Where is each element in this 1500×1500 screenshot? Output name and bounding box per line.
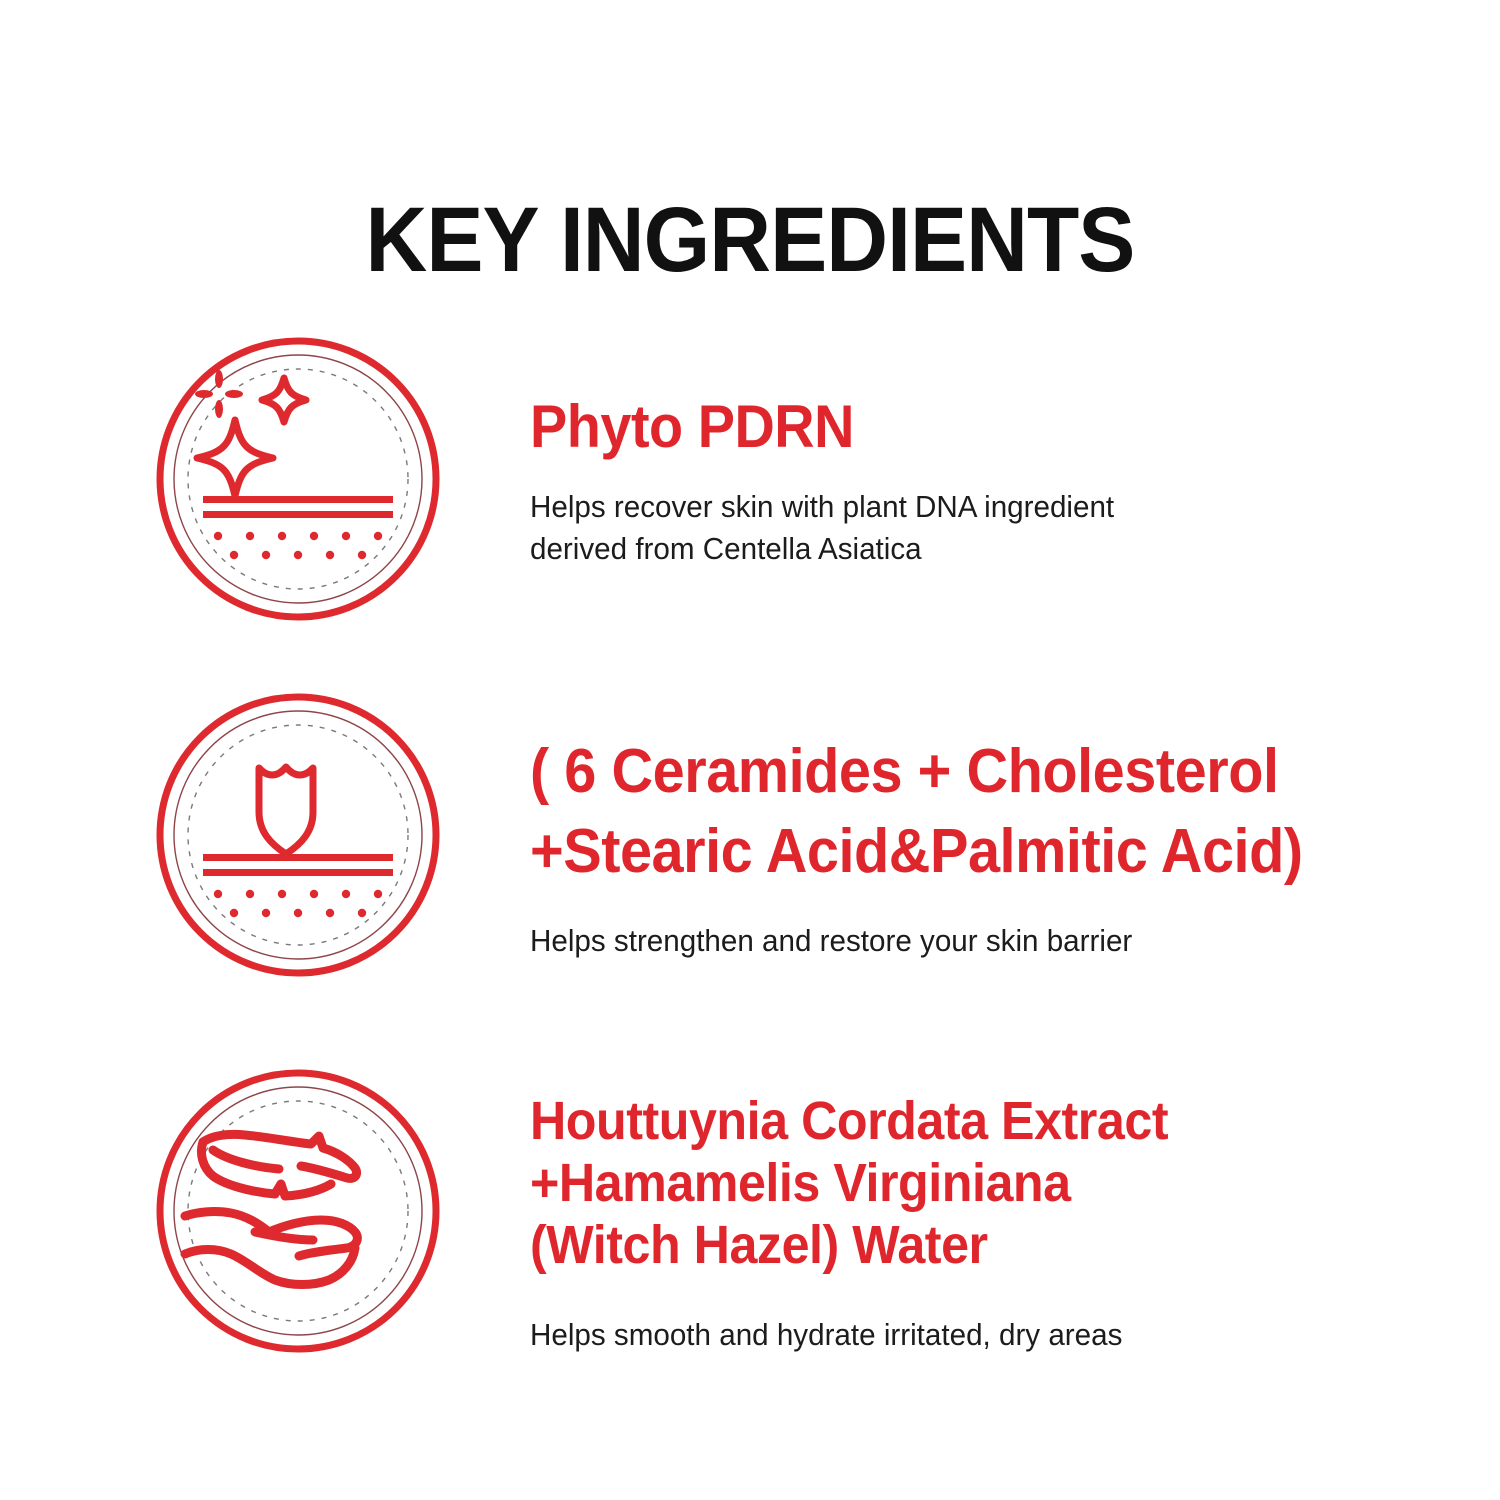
shield-glyph xyxy=(259,767,313,854)
ingredient-description-line: Helps smooth and hydrate irritated, dry … xyxy=(530,1314,1323,1356)
skin-dots-row-2 xyxy=(230,551,366,559)
caring-hands-icon xyxy=(155,1068,441,1354)
skin-layer-bar-top xyxy=(203,496,393,503)
ingredient-description-line: Helps strengthen and restore your skin b… xyxy=(530,920,1323,962)
ingredient-text-block: ( 6 Ceramides + Cholesterol +Stearic Aci… xyxy=(530,732,1360,962)
hand-upper-glyph xyxy=(201,1134,356,1196)
ingredient-description: Helps recover skin with plant DNA ingred… xyxy=(530,486,1323,570)
ingredient-title-line: Houttuynia Cordata Extract xyxy=(530,1090,1302,1152)
skin-layer-bar-bottom xyxy=(203,511,393,518)
ingredient-title: Houttuynia Cordata Extract +Hamamelis Vi… xyxy=(530,1090,1302,1276)
skin-dots-row-2 xyxy=(230,909,366,917)
ingredient-title-line: +Stearic Acid&Palmitic Acid) xyxy=(530,812,1302,892)
ingredient-title: ( 6 Ceramides + Cholesterol +Stearic Aci… xyxy=(530,732,1302,892)
skin-layer-bar-top xyxy=(203,854,393,861)
ingredient-title-line: +Hamamelis Virginiana xyxy=(530,1152,1302,1214)
page-title: KEY INGREDIENTS xyxy=(53,190,1448,290)
skin-dots-row-1 xyxy=(214,890,382,898)
ingredient-text-block: Phyto PDRN Helps recover skin with plant… xyxy=(530,394,1360,570)
hand-lower-glyph xyxy=(185,1212,357,1285)
ingredient-title-line: Phyto PDRN xyxy=(530,394,1302,460)
skin-layer-bar-bottom xyxy=(203,869,393,876)
shield-skin-barrier-icon xyxy=(155,692,441,978)
ingredient-description: Helps strengthen and restore your skin b… xyxy=(530,920,1323,962)
skin-dots-row-1 xyxy=(214,532,382,540)
ingredient-title-line: ( 6 Ceramides + Cholesterol xyxy=(530,732,1302,812)
key-ingredients-page: KEY INGREDIENTS xyxy=(0,0,1500,1500)
ingredient-title: Phyto PDRN xyxy=(530,394,1302,460)
ingredient-description-line: derived from Centella Asiatica xyxy=(530,528,1323,570)
ingredient-title-line: (Witch Hazel) Water xyxy=(530,1214,1302,1276)
sparkle-star-large xyxy=(197,420,273,496)
ingredient-description: Helps smooth and hydrate irritated, dry … xyxy=(530,1314,1323,1356)
sparkle-star-small xyxy=(262,378,306,422)
ingredient-text-block: Houttuynia Cordata Extract +Hamamelis Vi… xyxy=(530,1090,1360,1356)
sparkle-skin-layers-icon xyxy=(155,336,441,622)
ingredient-description-line: Helps recover skin with plant DNA ingred… xyxy=(530,486,1323,528)
